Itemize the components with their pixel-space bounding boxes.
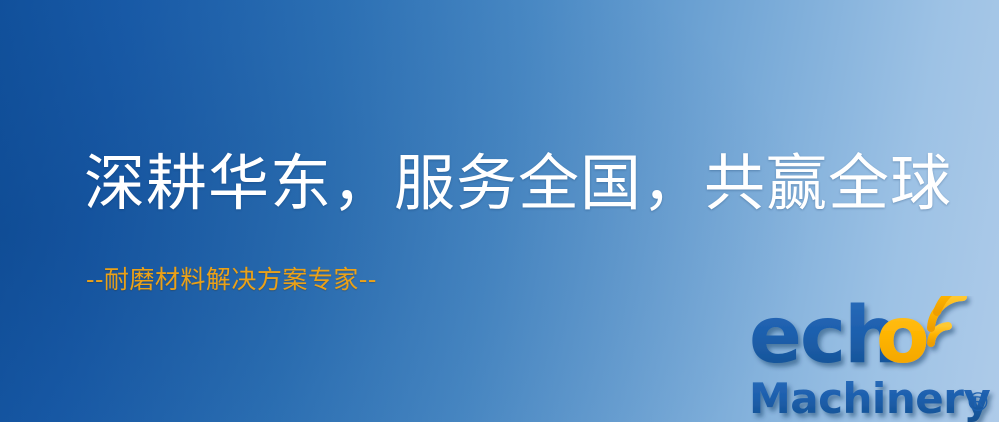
banner-subtitle: --耐磨材料解决方案专家-- — [86, 266, 377, 295]
signal-wave-icon — [931, 296, 977, 343]
banner-headline: 深耕华东，服务全国，共赢全球 — [84, 152, 952, 217]
logo-machinery-group: Machinery ® — [749, 374, 991, 422]
logo-registered-trademark-icon: ® — [965, 388, 991, 418]
logo-echo-group: ech o — [749, 296, 930, 381]
logo-o-letter: o — [876, 296, 930, 381]
hero-banner: 深耕华东，服务全国，共赢全球 --耐磨材料解决方案专家-- echo Machi… — [0, 0, 999, 422]
logo-machinery-letters: Machinery — [749, 374, 990, 422]
logo-artwork: ech o Machinery ® — [748, 296, 999, 422]
echo-machinery-logo: echo Machinery ech — [748, 296, 999, 422]
